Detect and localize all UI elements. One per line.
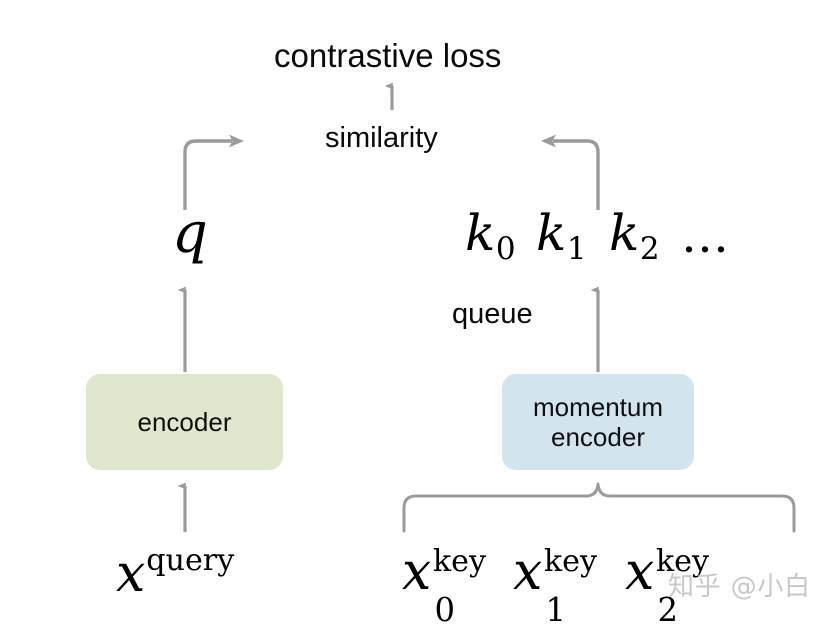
key-symbol-0-subscript: 0 (496, 234, 516, 265)
encoder-box[interactable]: encoder (86, 374, 283, 470)
key-symbol-1-subscript: 1 (567, 234, 587, 265)
input-key-1-base: x (513, 542, 542, 602)
input-key-1-superscript: key (544, 547, 597, 577)
key-symbol-0-base: k (465, 204, 495, 262)
figure-canvas: contrastive loss similarity q k0 k1 k2 …… (0, 0, 826, 634)
input-key-2-base: x (625, 542, 654, 602)
key-symbol-2: k2 (609, 208, 660, 265)
key-symbol-2-subscript: 2 (640, 234, 660, 265)
key-inputs-brace (404, 484, 794, 531)
momentum-encoder-box[interactable]: momentum encoder (502, 374, 694, 470)
momentum-encoder-box-label-line1: momentum (533, 392, 663, 422)
arrow-q-to-similarity (185, 141, 232, 210)
input-key-0-subscript: 0 (435, 594, 456, 626)
key-symbols-ellipsis: … (681, 212, 729, 260)
query-symbol: q (172, 206, 208, 262)
similarity-label: similarity (325, 124, 438, 153)
input-key-0-base: x (402, 542, 431, 602)
key-symbol-1: k1 (536, 208, 587, 265)
momentum-encoder-box-label-line2: encoder (551, 422, 645, 452)
key-symbol-0: k0 (465, 208, 516, 265)
input-query-symbol: xquery (116, 546, 234, 600)
input-key-symbol-2: xkey2 (625, 546, 654, 598)
contrastive-loss-label: contrastive loss (274, 39, 501, 72)
key-symbol-1-base: k (536, 204, 566, 262)
input-key-0-superscript: key (433, 547, 486, 577)
input-key-symbol-0: xkey0 (402, 546, 431, 598)
key-symbol-2-base: k (609, 204, 639, 262)
input-query-superscript: query (146, 546, 234, 576)
encoder-box-label: encoder (138, 407, 232, 437)
queue-label: queue (452, 300, 533, 329)
input-key-1-subscript: 1 (546, 594, 567, 626)
arrow-keys-to-similarity (553, 141, 598, 210)
input-query-base: x (116, 544, 145, 604)
watermark: 知乎 @小白 (668, 566, 811, 603)
input-key-symbol-1: xkey1 (513, 546, 542, 598)
arrow-layer (0, 0, 826, 634)
